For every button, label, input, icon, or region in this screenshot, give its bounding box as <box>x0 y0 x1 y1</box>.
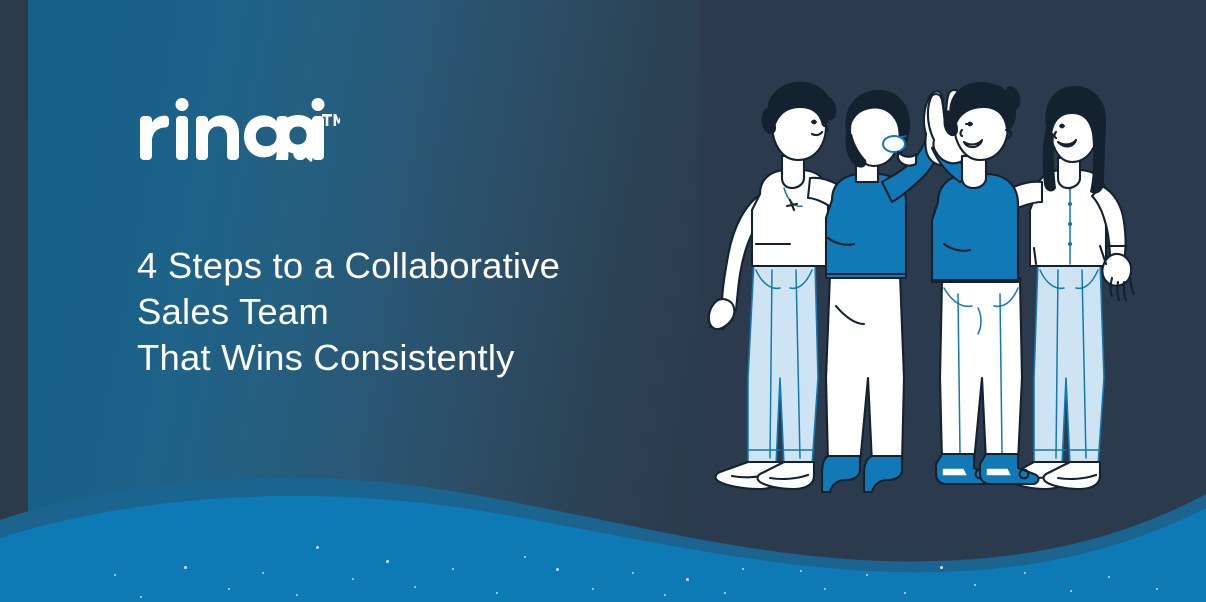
person-3 <box>928 82 1039 484</box>
wave-decoration <box>0 442 1206 602</box>
logo-speech-bubble-o-icon <box>268 100 340 162</box>
blog-banner: 4 Steps to a Collaborative Sales Team Th… <box>0 0 1206 602</box>
wave-front <box>0 496 1206 602</box>
page-title: 4 Steps to a Collaborative Sales Team Th… <box>137 243 677 381</box>
